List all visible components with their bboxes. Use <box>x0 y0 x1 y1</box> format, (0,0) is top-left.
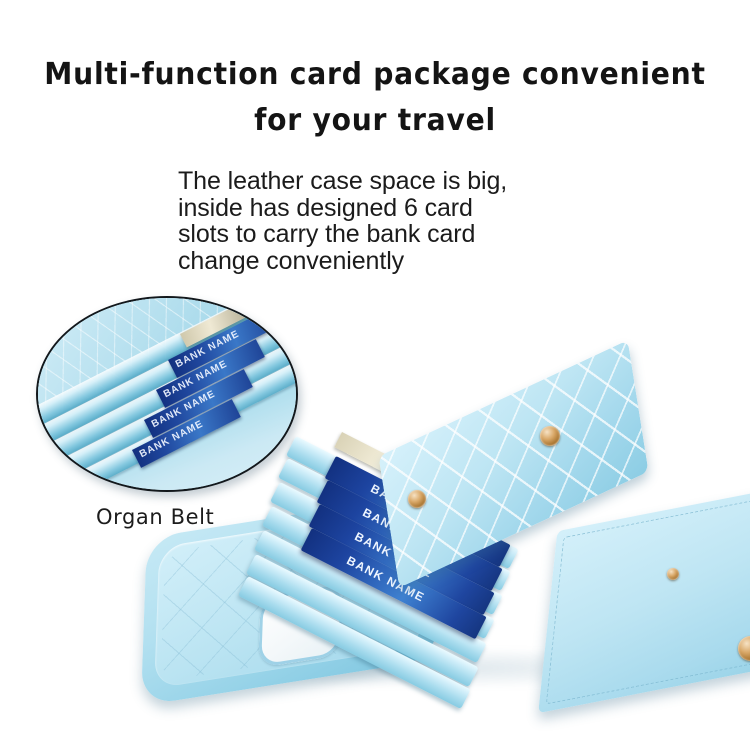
description-line-4: change conveniently <box>178 248 598 275</box>
snap-button-flap-bottom <box>408 490 426 508</box>
product-description: The leather case space is big, inside ha… <box>178 168 598 274</box>
product-photo: BANK NAME BANK NAME BANK NAME BANK NAME <box>140 398 750 698</box>
headline-line-2: for your travel <box>23 98 728 144</box>
description-line-3: slots to carry the bank card <box>178 221 598 248</box>
description-line-1: The leather case space is big, <box>178 168 598 195</box>
snap-button-small <box>667 568 679 580</box>
snap-button-flap-top <box>540 426 560 446</box>
page-headline: Multi-function card package convenient f… <box>23 52 728 144</box>
headline-line-1: Multi-function card package convenient <box>23 52 728 98</box>
description-line-2: inside has designed 6 card <box>178 195 598 222</box>
